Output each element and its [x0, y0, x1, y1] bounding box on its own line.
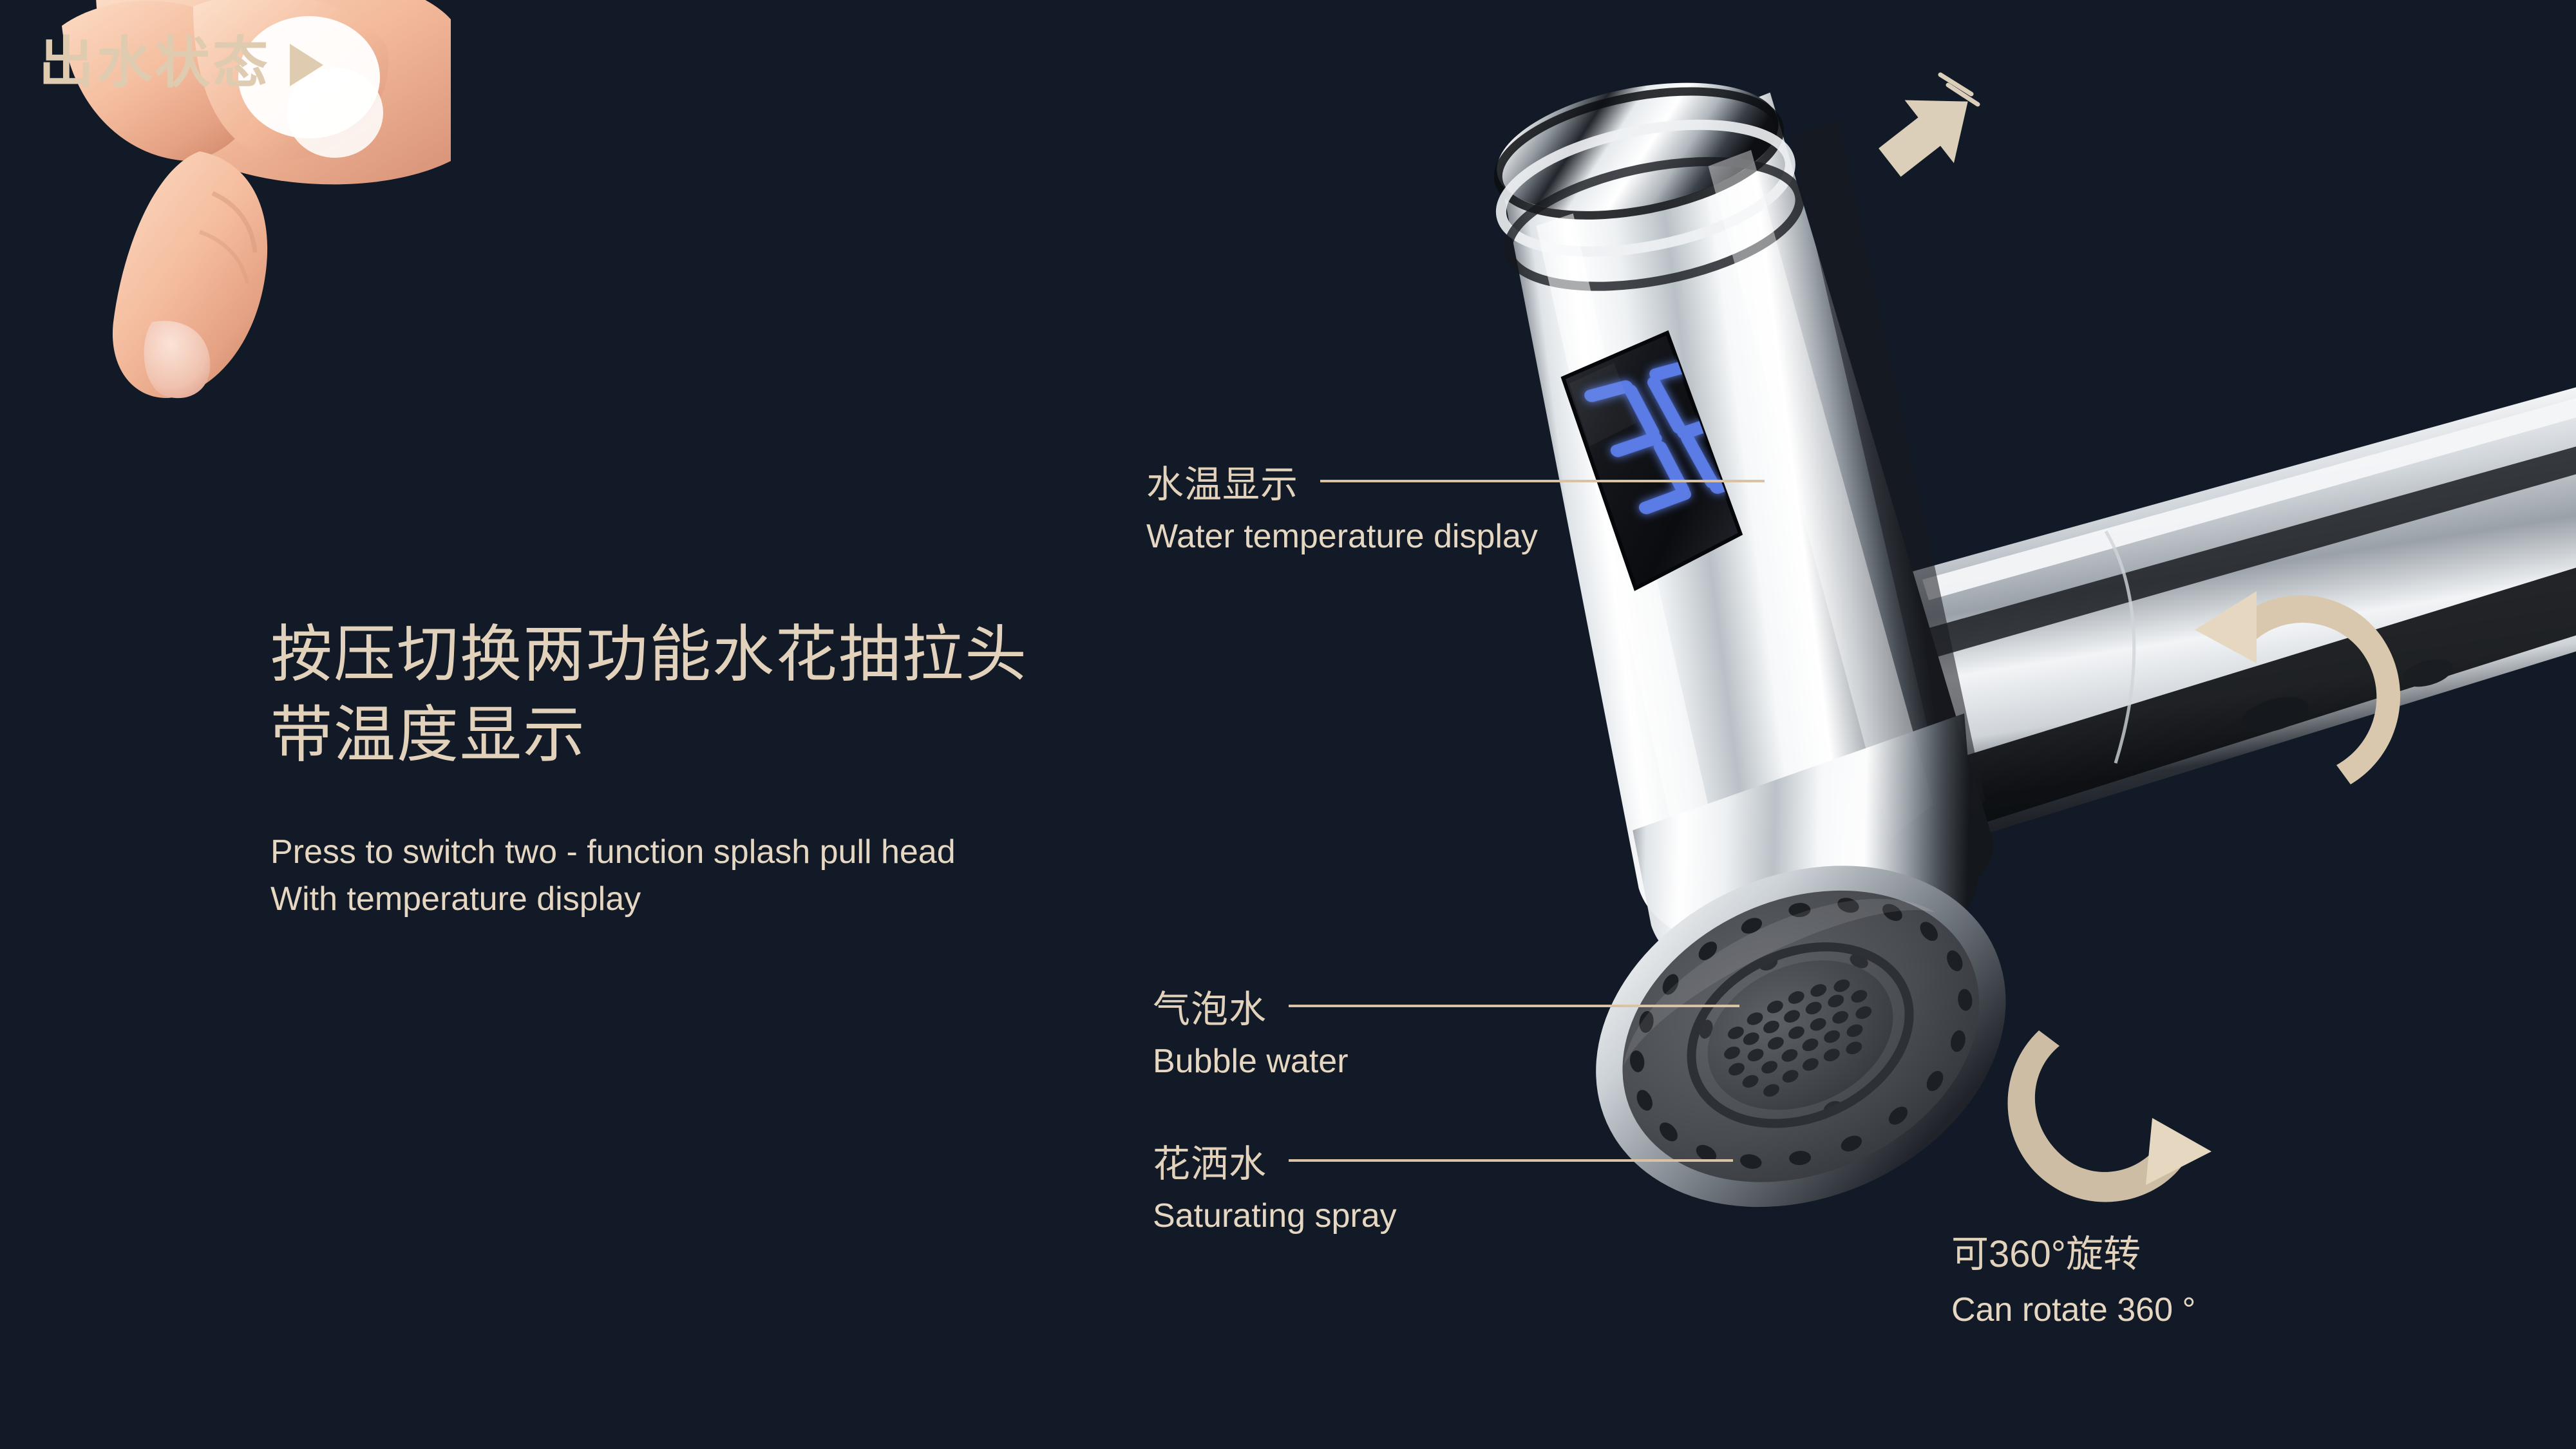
callout-spray-zh: 花洒水	[1153, 1133, 1267, 1188]
leader-line-bubble	[1289, 1005, 1739, 1007]
arrow-shape	[1871, 71, 1987, 193]
press-down-arrow-icon	[1871, 71, 1987, 193]
motion-lines	[1940, 75, 1978, 104]
callout-water-temperature: 水温显示 Water temperature display	[1146, 454, 1765, 556]
lead-zh-line2: 带温度显示	[270, 696, 1236, 776]
callout-rotate-360: 可360°旋转 Can rotate 360 °	[1951, 1224, 2195, 1329]
callout-bubble-water: 气泡水 Bubble water	[1153, 979, 1739, 1081]
lead-en-line2: With temperature display	[270, 876, 1236, 923]
callout-bubble-zh: 气泡水	[1153, 979, 1267, 1033]
leader-line-temperature	[1320, 480, 1765, 482]
callout-rotate-zh: 可360°旋转	[1951, 1224, 2195, 1278]
callout-temp-en: Water temperature display	[1146, 517, 1765, 556]
product-feature-slide: 出水状态 按压切换两功能水花抽拉头 带温度显示 Press to switch …	[0, 0, 2576, 1449]
callout-bubble-en: Bubble water	[1153, 1042, 1739, 1081]
page-title: 出水状态	[39, 35, 270, 91]
rotate-cw-arrow-icon	[1996, 992, 2254, 1230]
lead-copy-block: 按压切换两功能水花抽拉头 带温度显示 Press to switch two -…	[270, 615, 1236, 923]
play-triangle-icon	[290, 44, 323, 86]
leader-line-spray	[1289, 1159, 1733, 1162]
faucet-spout-arm	[1790, 386, 2576, 882]
callout-saturating-spray: 花洒水 Saturating spray	[1153, 1133, 1733, 1235]
lead-zh-line1: 按压切换两功能水花抽拉头	[270, 615, 1236, 696]
spout-slot	[2400, 654, 2456, 692]
spout-slot	[2237, 690, 2312, 739]
lead-en-line1: Press to switch two - function splash pu…	[270, 829, 1236, 876]
rotate-ccw-arrow-icon	[2190, 580, 2434, 811]
callout-temp-zh: 水温显示	[1146, 454, 1298, 508]
page-header: 出水状态	[39, 35, 323, 91]
callout-spray-en: Saturating spray	[1153, 1197, 1733, 1235]
callout-rotate-en: Can rotate 360 °	[1951, 1291, 2195, 1329]
press-button-cap	[1486, 62, 1789, 232]
